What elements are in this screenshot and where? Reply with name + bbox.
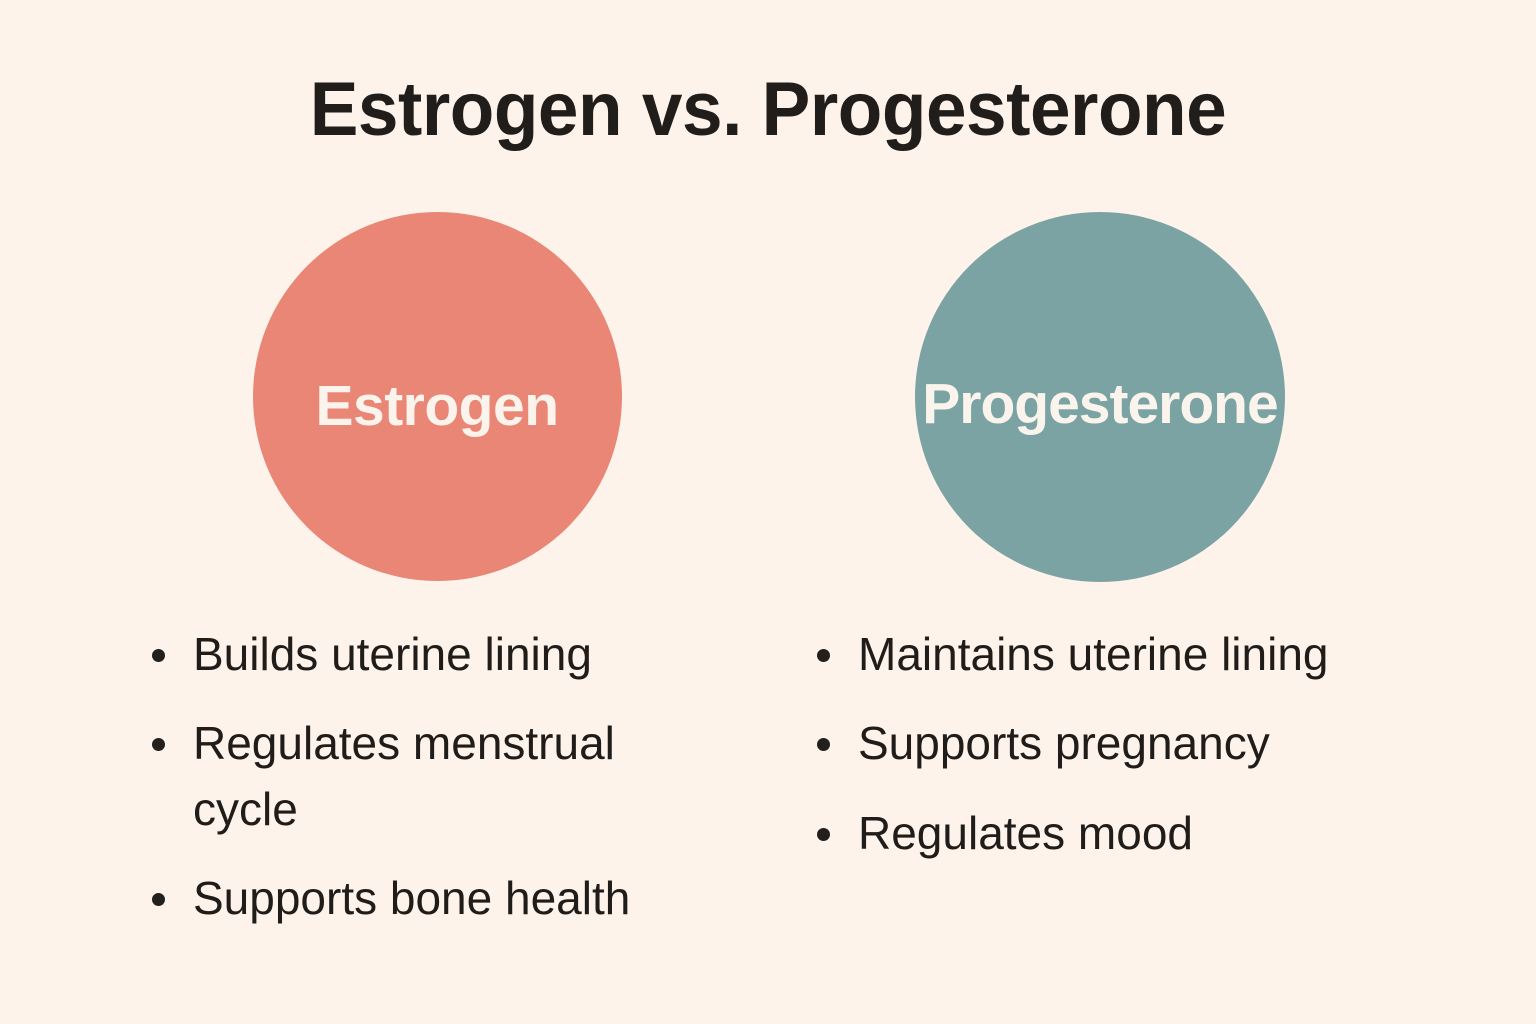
list-item: Maintains uterine lining [817, 622, 1437, 687]
list-item-label: Maintains uterine lining [858, 622, 1437, 687]
circle-estrogen: Estrogen [253, 212, 622, 581]
bullet-dot-icon [152, 893, 165, 906]
list-item: Builds uterine lining [152, 622, 712, 687]
circle-estrogen-label: Estrogen [177, 378, 697, 435]
list-item: Supports pregnancy [817, 711, 1437, 776]
page-title: Estrogen vs. Progesterone [31, 72, 1506, 148]
bullet-dot-icon [152, 649, 165, 662]
bullet-dot-icon [152, 738, 165, 751]
list-item: Regulates menstrual cycle [152, 711, 712, 842]
bullet-dot-icon [817, 738, 830, 751]
list-item-label: Regulates mood [858, 801, 1437, 866]
list-item: Supports bone health [152, 866, 712, 931]
bullet-dot-icon [817, 649, 830, 662]
list-item-label: Supports bone health [193, 866, 712, 931]
list-item-label: Regulates menstrual cycle [193, 711, 712, 842]
infographic-canvas: Estrogen vs. Progesterone Estrogen Build… [0, 0, 1536, 1024]
circle-progesterone-label: Progesterone [840, 376, 1360, 433]
bullet-dot-icon [817, 828, 830, 841]
estrogen-bullet-list: Builds uterine lining Regulates menstrua… [152, 622, 712, 931]
list-item-label: Supports pregnancy [858, 711, 1437, 776]
list-item: Regulates mood [817, 801, 1437, 866]
progesterone-bullet-list: Maintains uterine lining Supports pregna… [817, 622, 1437, 866]
list-item-label: Builds uterine lining [193, 622, 712, 687]
circle-progesterone: Progesterone [915, 212, 1285, 582]
